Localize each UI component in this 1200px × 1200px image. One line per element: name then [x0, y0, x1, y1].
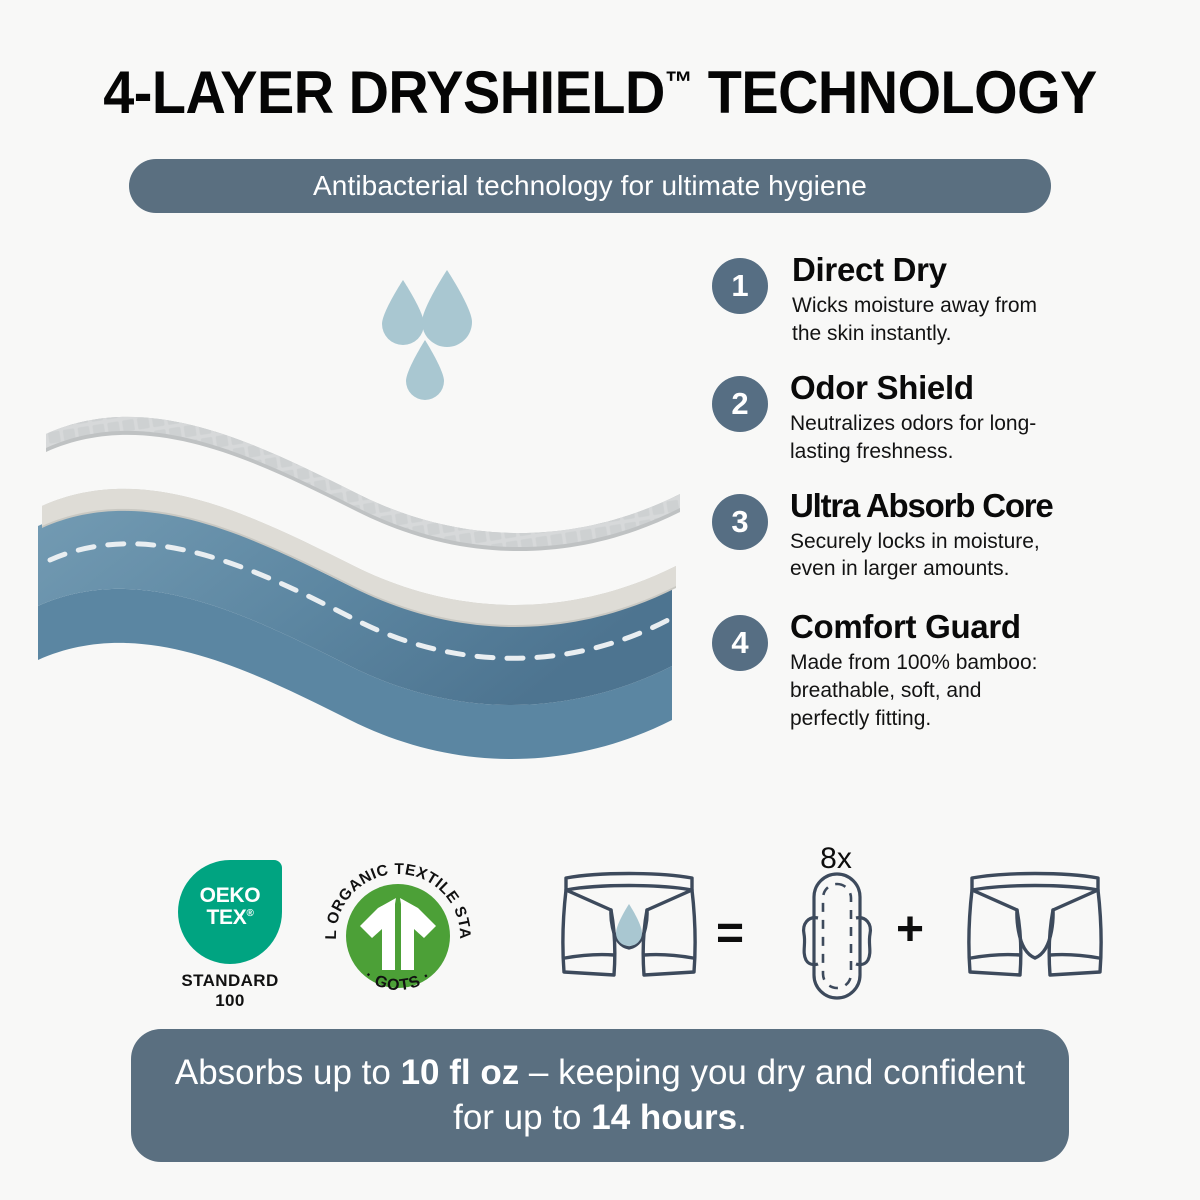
- oeko-tex-mark-icon: OEKO TEX®: [178, 860, 282, 964]
- oeko-tex-caption-line1: STANDARD: [170, 971, 290, 991]
- feature-description-3: Securely locks in moisture, even in larg…: [790, 528, 1053, 584]
- feature-item-3: 3 Ultra Absorb Core Securely locks in mo…: [712, 488, 1190, 584]
- feature-title-4: Comfort Guard: [790, 609, 1037, 646]
- feature-badge-2: 2: [712, 376, 768, 432]
- subtitle-text: Antibacterial technology for ultimate hy…: [313, 170, 867, 202]
- bottom-claim-banner: Absorbs up to 10 fl oz – keeping you dry…: [131, 1029, 1069, 1162]
- title-suffix-text: TECHNOLOGY: [693, 59, 1097, 126]
- gots-badge: GLOBAL ORGANIC TEXTILE STANDARD · GOTS ·: [318, 856, 478, 1016]
- feature-description-2: Neutralizes odors for long- lasting fres…: [790, 410, 1036, 466]
- oeko-tex-line2-wrap: TEX®: [206, 907, 253, 929]
- feature-title-1: Direct Dry: [792, 252, 1037, 289]
- claim-duration: 14 hours: [591, 1098, 737, 1137]
- feature-list: 1 Direct Dry Wicks moisture away from th…: [712, 252, 1190, 753]
- oeko-tex-badge: OEKO TEX® STANDARD 100: [170, 860, 290, 1011]
- feature-item-1: 1 Direct Dry Wicks moisture away from th…: [712, 252, 1190, 348]
- absorbency-equation: = 8x +: [548, 838, 1148, 1013]
- claim-part1: Absorbs up to: [175, 1053, 401, 1092]
- blue-core-layer: [38, 509, 672, 759]
- subtitle-banner: Antibacterial technology for ultimate hy…: [129, 159, 1051, 213]
- layer-illustration: [20, 268, 710, 778]
- infographic-page: 4-LAYER DRYSHIELD™ TECHNOLOGY Antibacter…: [0, 0, 1200, 1200]
- title-main-text: 4-LAYER DRYSHIELD: [103, 59, 665, 126]
- oeko-tex-line1: OEKO: [200, 885, 261, 907]
- droplet-bottom: [406, 340, 444, 400]
- oeko-tex-caption-line2: 100: [170, 991, 290, 1011]
- trademark-symbol: ™: [665, 66, 693, 99]
- bottom-claim-text: Absorbs up to 10 fl oz – keeping you dry…: [131, 1051, 1069, 1141]
- oeko-tex-caption: STANDARD 100: [170, 971, 290, 1011]
- oeko-tex-line2: TEX: [206, 906, 246, 929]
- feature-title-3: Ultra Absorb Core: [790, 488, 1053, 525]
- pad-dashed-inner: [823, 884, 851, 988]
- claim-volume: 10 fl oz: [401, 1053, 520, 1092]
- feature-description-1: Wicks moisture away from the skin instan…: [792, 292, 1037, 348]
- boxer-brief-plain-icon: [960, 866, 1110, 986]
- certification-row: OEKO TEX® STANDARD 100: [0, 838, 1200, 1013]
- feature-item-4: 4 Comfort Guard Made from 100% bamboo: b…: [712, 609, 1190, 733]
- feature-description-4: Made from 100% bamboo: breathable, soft,…: [790, 649, 1037, 733]
- boxer-brief-with-droplet-icon: [554, 866, 704, 986]
- water-droplets: [382, 270, 472, 400]
- registered-mark-icon: ®: [246, 908, 253, 919]
- plus-symbol: +: [896, 906, 924, 954]
- oeko-tex-label: OEKO TEX®: [178, 860, 282, 964]
- feature-item-2: 2 Odor Shield Neutralizes odors for long…: [712, 370, 1190, 466]
- droplet-left: [382, 280, 424, 345]
- sanitary-pad-icon: [796, 870, 878, 1002]
- feature-badge-1: 1: [712, 258, 768, 314]
- droplet-right: [422, 270, 472, 347]
- claim-part3: .: [737, 1098, 747, 1137]
- feature-title-2: Odor Shield: [790, 370, 1036, 407]
- droplet-icon: [616, 904, 642, 946]
- page-title: 4-LAYER DRYSHIELD™ TECHNOLOGY: [42, 58, 1158, 127]
- feature-badge-4: 4: [712, 615, 768, 671]
- equals-symbol: =: [716, 910, 744, 958]
- gots-circle: [346, 884, 450, 988]
- feature-badge-3: 3: [712, 494, 768, 550]
